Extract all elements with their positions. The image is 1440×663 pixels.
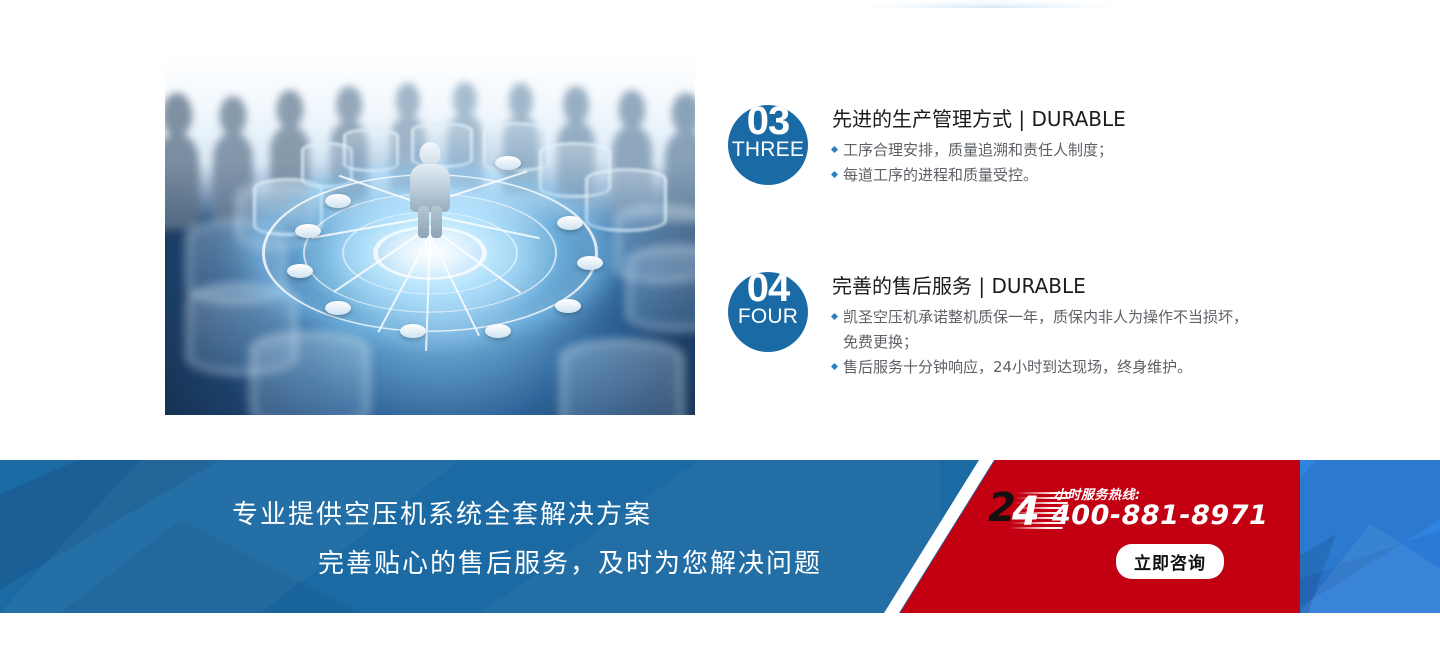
network-illustration — [165, 56, 695, 415]
bullet-diamond-icon — [831, 363, 838, 370]
feature-badge-03: 03 THREE — [728, 105, 808, 185]
hotline-number: 400-881-8971 — [1052, 500, 1268, 531]
feature-body-03: 先进的生产管理方式 | DURABLE 工序合理安排，质量追溯和责任人制度； 每… — [832, 105, 1252, 188]
cta-banner: 专业提供空压机系统全套解决方案 完善贴心的售后服务，及时为您解决问题 2 4 小… — [0, 460, 1440, 613]
consult-now-button[interactable]: 立即咨询 — [1116, 544, 1224, 579]
bullet-text: 每道工序的进程和质量受控。 — [843, 166, 1038, 184]
twentyfour-hour-logo: 2 4 — [988, 490, 1058, 534]
banner-text-group: 专业提供空压机系统全套解决方案 完善贴心的售后服务，及时为您解决问题 — [0, 460, 905, 613]
bullet-diamond-icon — [831, 146, 838, 153]
bullet-text: 售后服务十分钟响应，24小时到达现场，终身维护。 — [843, 358, 1192, 376]
badge-word: FOUR — [728, 306, 808, 327]
list-item: 售后服务十分钟响应，24小时到达现场，终身维护。 — [832, 355, 1252, 380]
feature-title-04: 完善的售后服务 | DURABLE — [832, 272, 1252, 300]
illustration-person-figure — [410, 142, 450, 238]
feature-body-04: 完善的售后服务 | DURABLE 凯圣空压机承诺整机质保一年，质保内非人为操作… — [832, 272, 1252, 380]
bullet-diamond-icon — [831, 313, 838, 320]
badge-word: THREE — [728, 139, 808, 160]
badge-number: 03 — [728, 105, 808, 141]
bullet-text: 工序合理安排，质量追溯和责任人制度； — [843, 141, 1113, 159]
list-item: 每道工序的进程和质量受控。 — [832, 163, 1252, 188]
feature-bullets-03: 工序合理安排，质量追溯和责任人制度； 每道工序的进程和质量受控。 — [832, 138, 1252, 188]
feature-badge-04: 04 FOUR — [728, 272, 808, 352]
list-item: 工序合理安排，质量追溯和责任人制度； — [832, 138, 1252, 163]
feature-title-03: 先进的生产管理方式 | DURABLE — [832, 105, 1252, 133]
banner-headline-2: 完善贴心的售后服务，及时为您解决问题 — [318, 543, 905, 580]
bullet-diamond-icon — [831, 171, 838, 178]
contact-group: 2 4 小时服务热线: 400-881-8971 立即咨询 — [988, 480, 1258, 600]
list-item: 凯圣空压机承诺整机质保一年，质保内非人为操作不当损坏，免费更换； — [832, 305, 1252, 355]
bullet-text: 凯圣空压机承诺整机质保一年，质保内非人为操作不当损坏，免费更换； — [843, 308, 1248, 351]
banner-headline-1: 专业提供空压机系统全套解决方案 — [232, 494, 905, 531]
feature-bullets-04: 凯圣空压机承诺整机质保一年，质保内非人为操作不当损坏，免费更换； 售后服务十分钟… — [832, 305, 1252, 380]
features-section: 03 THREE 先进的生产管理方式 | DURABLE 工序合理安排，质量追溯… — [0, 0, 1440, 460]
logo-digit-4: 4 — [1012, 490, 1040, 534]
badge-number: 04 — [728, 272, 808, 308]
